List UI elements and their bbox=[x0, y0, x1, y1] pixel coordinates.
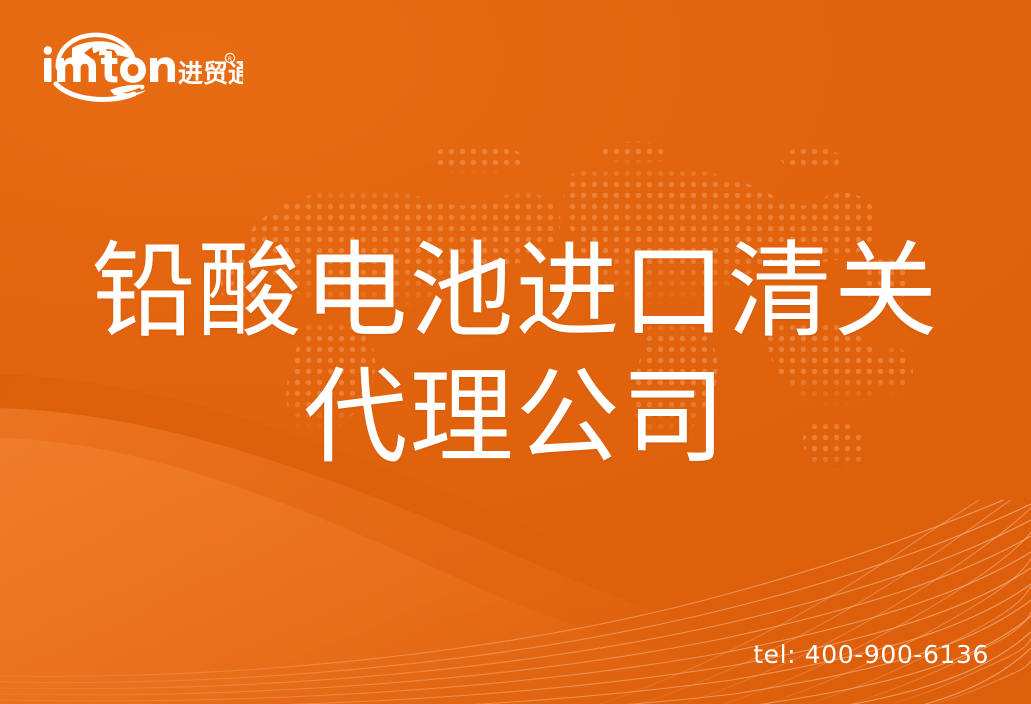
fan-lines-svg bbox=[0, 500, 1031, 704]
contact-phone[interactable]: tel: 400-900-6136 bbox=[753, 640, 989, 669]
headline-line-1: 铅酸电池进口清关 bbox=[0, 228, 1031, 354]
svg-text:R: R bbox=[228, 56, 232, 63]
logo-svg: 进贸通 R bbox=[38, 28, 243, 104]
headline-line-2: 代理公司 bbox=[0, 354, 1031, 480]
promo-banner: 进贸通 R 铅酸电池进口清关 代理公司 tel: 400-900-6136 bbox=[0, 0, 1031, 704]
logo-chinese-text: 进贸通 bbox=[178, 59, 243, 88]
swoosh-arrow-icon bbox=[56, 84, 146, 99]
page-title: 铅酸电池进口清关 代理公司 bbox=[0, 228, 1031, 480]
logo-chinese-name: 进贸通 bbox=[178, 59, 243, 88]
fan-line-decoration bbox=[0, 500, 1031, 704]
imton-logo[interactable]: 进贸通 R bbox=[38, 28, 243, 104]
